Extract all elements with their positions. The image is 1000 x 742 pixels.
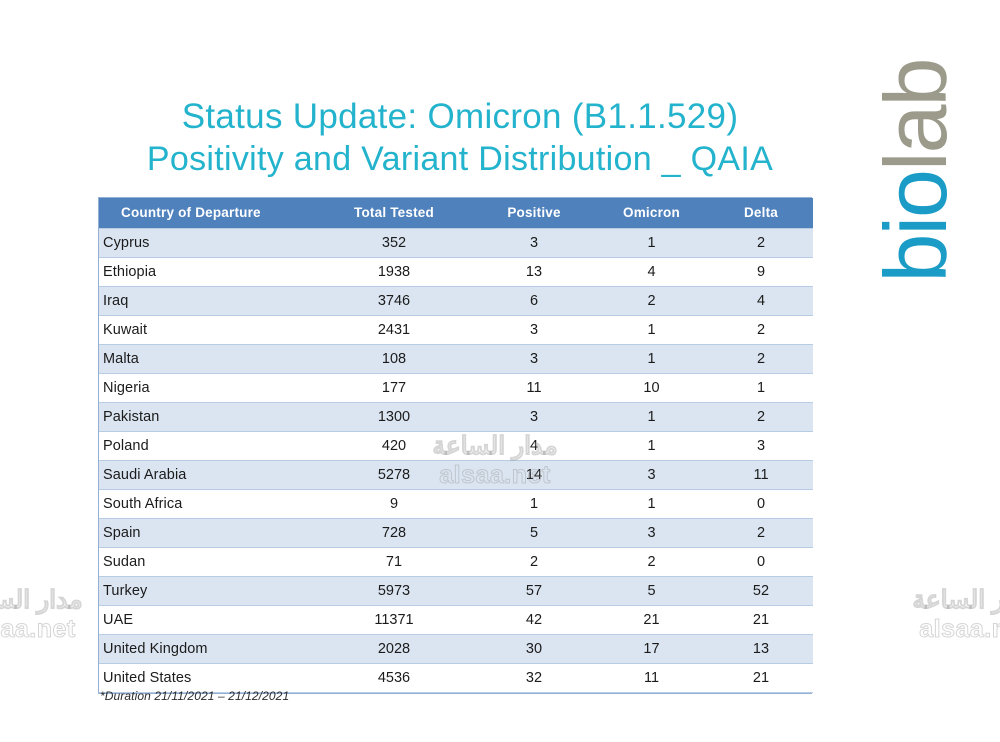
cell-total-tested: 5278 [314, 461, 474, 490]
cell-positive: 6 [474, 287, 594, 316]
cell-delta: 0 [709, 548, 813, 577]
table-body: Cyprus352312 Ethiopia19381349 Iraq374662… [99, 229, 813, 693]
table-row: Sudan71220 [99, 548, 813, 577]
table-header: Country of Departure Total Tested Positi… [99, 198, 813, 229]
cell-omicron: 1 [594, 490, 709, 519]
table-row: UAE11371422121 [99, 606, 813, 635]
cell-omicron: 17 [594, 635, 709, 664]
column-header-positive: Positive [474, 198, 594, 229]
column-header-total-tested: Total Tested [314, 198, 474, 229]
cell-total-tested: 11371 [314, 606, 474, 635]
cell-total-tested: 728 [314, 519, 474, 548]
cell-total-tested: 1938 [314, 258, 474, 287]
cell-omicron: 2 [594, 548, 709, 577]
cell-delta: 11 [709, 461, 813, 490]
table-row: Poland420413 [99, 432, 813, 461]
cell-total-tested: 4536 [314, 664, 474, 693]
cell-country: United Kingdom [99, 635, 314, 664]
table-row: United Kingdom2028301713 [99, 635, 813, 664]
cell-delta: 21 [709, 664, 813, 693]
table-row: South Africa9110 [99, 490, 813, 519]
watermark-right: مدار الساعة alsaa.net [880, 586, 1000, 644]
cell-total-tested: 3746 [314, 287, 474, 316]
cell-country: Iraq [99, 287, 314, 316]
cell-positive: 3 [474, 345, 594, 374]
cell-country: Spain [99, 519, 314, 548]
table-row: Pakistan1300312 [99, 403, 813, 432]
cell-omicron: 1 [594, 403, 709, 432]
cell-total-tested: 352 [314, 229, 474, 258]
logo-text-bio: bio [866, 171, 965, 282]
logo-text-lab: lab [866, 60, 965, 171]
cell-positive: 57 [474, 577, 594, 606]
cell-positive: 32 [474, 664, 594, 693]
cell-total-tested: 108 [314, 345, 474, 374]
table-row: Malta108312 [99, 345, 813, 374]
cell-positive: 1 [474, 490, 594, 519]
cell-positive: 11 [474, 374, 594, 403]
column-header-omicron: Omicron [594, 198, 709, 229]
duration-footnote: *Duration 21/11/2021 – 21/12/2021 [100, 689, 289, 703]
cell-delta: 13 [709, 635, 813, 664]
cell-omicron: 10 [594, 374, 709, 403]
cell-positive: 14 [474, 461, 594, 490]
biolab-logo-text: biolab [872, 60, 960, 283]
cell-positive: 3 [474, 316, 594, 345]
cell-delta: 2 [709, 345, 813, 374]
table-row: Spain728532 [99, 519, 813, 548]
title-line-2: Positivity and Variant Distribution _ QA… [60, 138, 860, 180]
cell-total-tested: 420 [314, 432, 474, 461]
cell-country: Sudan [99, 548, 314, 577]
cell-omicron: 5 [594, 577, 709, 606]
cell-omicron: 3 [594, 519, 709, 548]
cell-delta: 52 [709, 577, 813, 606]
cell-country: Kuwait [99, 316, 314, 345]
watermark-arabic-text: مدار الساعة [880, 586, 1000, 615]
cell-positive: 13 [474, 258, 594, 287]
table-row: Kuwait2431312 [99, 316, 813, 345]
column-header-country: Country of Departure [99, 198, 314, 229]
data-table: Country of Departure Total Tested Positi… [99, 198, 813, 693]
cell-positive: 30 [474, 635, 594, 664]
cell-total-tested: 9 [314, 490, 474, 519]
cell-omicron: 1 [594, 229, 709, 258]
table-row: Turkey597357552 [99, 577, 813, 606]
cell-omicron: 4 [594, 258, 709, 287]
cell-delta: 3 [709, 432, 813, 461]
cell-country: UAE [99, 606, 314, 635]
cell-delta: 21 [709, 606, 813, 635]
table-row: Nigeria17711101 [99, 374, 813, 403]
column-header-delta: Delta [709, 198, 813, 229]
cell-positive: 3 [474, 229, 594, 258]
cell-country: Malta [99, 345, 314, 374]
table-row: Ethiopia19381349 [99, 258, 813, 287]
biolab-logo: biolab [856, 46, 976, 296]
cell-omicron: 1 [594, 345, 709, 374]
cell-total-tested: 1300 [314, 403, 474, 432]
cell-omicron: 2 [594, 287, 709, 316]
cell-omicron: 3 [594, 461, 709, 490]
cell-omicron: 21 [594, 606, 709, 635]
cell-positive: 3 [474, 403, 594, 432]
cell-delta: 2 [709, 403, 813, 432]
variant-distribution-table: Country of Departure Total Tested Positi… [98, 197, 812, 694]
cell-positive: 4 [474, 432, 594, 461]
cell-total-tested: 71 [314, 548, 474, 577]
cell-country: Nigeria [99, 374, 314, 403]
cell-omicron: 11 [594, 664, 709, 693]
cell-country: Cyprus [99, 229, 314, 258]
cell-delta: 0 [709, 490, 813, 519]
cell-positive: 5 [474, 519, 594, 548]
page-title: Status Update: Omicron (B1.1.529) Positi… [60, 96, 860, 180]
cell-total-tested: 2431 [314, 316, 474, 345]
watermark-left: مدار الساعة alsaa.net [0, 586, 110, 644]
table-header-row: Country of Departure Total Tested Positi… [99, 198, 813, 229]
watermark-latin-text: alsaa.net [0, 615, 110, 644]
cell-country: South Africa [99, 490, 314, 519]
cell-omicron: 1 [594, 432, 709, 461]
cell-delta: 1 [709, 374, 813, 403]
watermark-latin-text: alsaa.net [880, 615, 1000, 644]
cell-delta: 2 [709, 519, 813, 548]
watermark-arabic-text: مدار الساعة [0, 586, 110, 615]
cell-country: Ethiopia [99, 258, 314, 287]
table-row: Iraq3746624 [99, 287, 813, 316]
cell-country: Turkey [99, 577, 314, 606]
cell-total-tested: 2028 [314, 635, 474, 664]
cell-omicron: 1 [594, 316, 709, 345]
cell-total-tested: 5973 [314, 577, 474, 606]
cell-country: Saudi Arabia [99, 461, 314, 490]
cell-country: Pakistan [99, 403, 314, 432]
title-line-1: Status Update: Omicron (B1.1.529) [60, 96, 860, 138]
slide-canvas: Status Update: Omicron (B1.1.529) Positi… [0, 0, 1000, 742]
cell-total-tested: 177 [314, 374, 474, 403]
cell-positive: 42 [474, 606, 594, 635]
cell-delta: 2 [709, 316, 813, 345]
cell-positive: 2 [474, 548, 594, 577]
table-row: Cyprus352312 [99, 229, 813, 258]
table-row: Saudi Arabia527814311 [99, 461, 813, 490]
cell-delta: 4 [709, 287, 813, 316]
cell-delta: 9 [709, 258, 813, 287]
cell-delta: 2 [709, 229, 813, 258]
cell-country: Poland [99, 432, 314, 461]
